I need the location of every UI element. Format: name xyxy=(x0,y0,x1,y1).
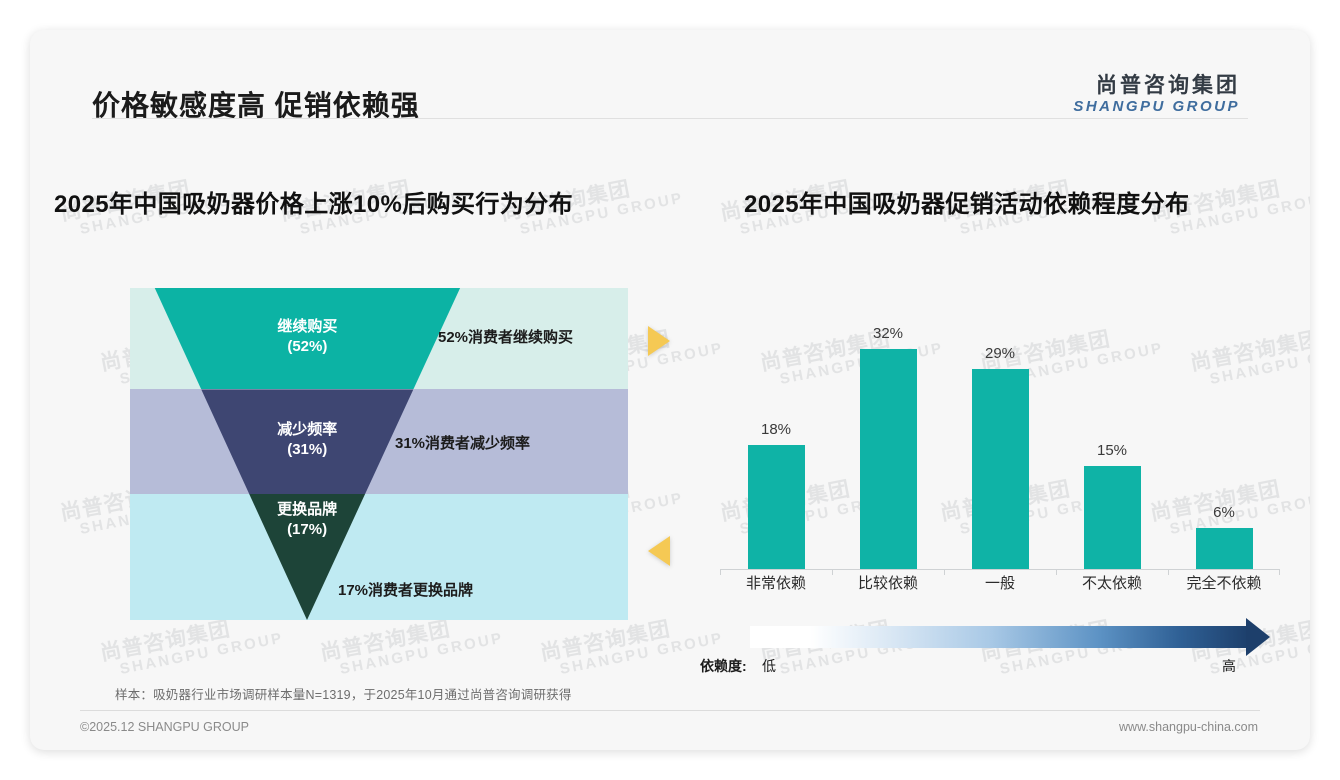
funnel-label-value: (52%) xyxy=(287,338,327,355)
bar-column: 6% xyxy=(1168,528,1280,570)
bar-column: 18% xyxy=(720,445,832,570)
bar-category-label: 完全不依赖 xyxy=(1168,572,1280,593)
legend-high-label: 高 xyxy=(1222,656,1236,676)
funnel-label-text: 更换品牌 xyxy=(277,501,337,518)
funnel-slice-label: 继续购买(52%) xyxy=(237,317,377,358)
bar xyxy=(1196,528,1253,569)
sample-footnote: 样本：吸奶器行业市场调研样本量N=1319，于2025年10月通过尚普咨询调研获… xyxy=(115,684,572,703)
funnel-slice-label: 减少频率(31%) xyxy=(237,420,377,461)
funnel-band: 更换品牌(17%)17%消费者更换品牌 xyxy=(95,494,630,620)
bar-column: 32% xyxy=(832,349,944,570)
slide-card: 尚普咨询集团SHANGPU GROUP尚普咨询集团SHANGPU GROUP尚普… xyxy=(30,30,1310,750)
axis-tick xyxy=(1279,570,1280,575)
bar-value-label: 29% xyxy=(944,345,1056,362)
bar-value-label: 15% xyxy=(1056,442,1168,459)
funnel-band-description: 31%消费者减少频率 xyxy=(395,432,530,453)
funnel-label-text: 继续购买 xyxy=(277,318,337,335)
logo-text-en: SHANGPU GROUP xyxy=(1073,98,1240,116)
bar-column: 29% xyxy=(944,369,1056,570)
funnel-band: 减少频率(31%)31%消费者减少频率 xyxy=(95,389,630,494)
bar xyxy=(972,369,1029,569)
funnel-marker-left-icon xyxy=(648,536,670,566)
bar-category-label: 一般 xyxy=(944,572,1056,593)
funnel-band-strip xyxy=(130,494,628,620)
bar-value-label: 32% xyxy=(832,325,944,342)
bar xyxy=(1084,466,1141,569)
funnel-label-value: (31%) xyxy=(287,441,327,458)
right-chart-title: 2025年中国吸奶器促销活动依赖程度分布 xyxy=(744,184,1189,219)
gradient-arrow-icon xyxy=(1246,618,1270,656)
funnel-band-description: 52%消费者继续购买 xyxy=(438,326,573,347)
brand-logo: 尚普咨询集团 SHANGPU GROUP xyxy=(1073,74,1240,116)
gradient-bar xyxy=(750,626,1250,648)
funnel-label-value: (17%) xyxy=(287,521,327,538)
footer-divider xyxy=(80,710,1260,711)
funnel-band: 继续购买(52%)52%消费者继续购买 xyxy=(95,288,630,390)
footer-website: www.shangpu-china.com xyxy=(1119,720,1258,734)
bar xyxy=(748,445,805,569)
bar-category-label: 非常依赖 xyxy=(720,572,832,593)
legend-low-label: 低 xyxy=(762,656,776,676)
logo-text-cn: 尚普咨询集团 xyxy=(1073,74,1240,98)
footer-copyright: ©2025.12 SHANGPU GROUP xyxy=(80,720,249,734)
header-divider xyxy=(92,118,1248,119)
bar xyxy=(860,349,917,569)
funnel-chart: 继续购买(52%)52%消费者继续购买减少频率(31%)31%消费者减少频率更换… xyxy=(95,234,630,620)
dependency-gradient-legend: 依赖度: 低 高 xyxy=(720,622,1280,680)
funnel-slice-label: 更换品牌(17%) xyxy=(237,500,377,541)
funnel-label-text: 减少频率 xyxy=(277,421,337,438)
bar-column: 15% xyxy=(1056,466,1168,570)
bar-value-label: 18% xyxy=(720,421,832,438)
legend-title: 依赖度: xyxy=(700,656,747,676)
bar-value-label: 6% xyxy=(1168,504,1280,521)
bar-category-label: 比较依赖 xyxy=(832,572,944,593)
funnel-band-description: 17%消费者更换品牌 xyxy=(338,579,473,600)
funnel-marker-right-icon xyxy=(648,326,670,356)
slide-header: 价格敏感度高 促销依赖强 尚普咨询集团 SHANGPU GROUP xyxy=(30,30,1310,120)
left-chart-title: 2025年中国吸奶器价格上涨10%后购买行为分布 xyxy=(54,184,573,219)
bar-chart: 18%非常依赖32%比较依赖29%一般15%不太依赖6%完全不依赖 xyxy=(720,310,1280,570)
bar-category-label: 不太依赖 xyxy=(1056,572,1168,593)
